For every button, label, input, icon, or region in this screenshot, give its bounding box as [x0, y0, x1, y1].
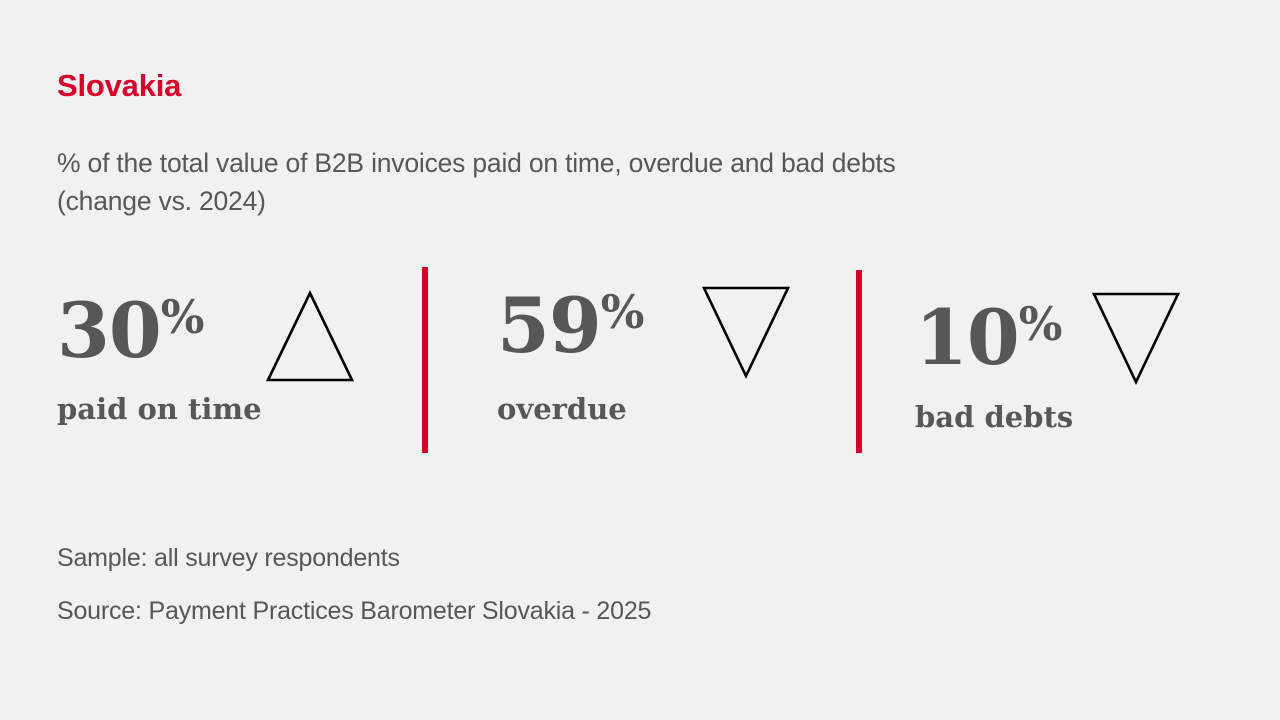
infographic-page: Slovakia % of the total value of B2B inv…	[0, 0, 1280, 720]
percent-sign: %	[161, 290, 204, 344]
stat-value-bad-debts: 10%	[915, 300, 1061, 376]
stats-row: 30% paid on time 59%	[0, 255, 1280, 465]
footer-notes: Sample: all survey respondents Source: P…	[57, 532, 651, 638]
divider-1	[422, 267, 428, 453]
triangle-down-icon	[700, 282, 792, 380]
sample-note: Sample: all survey respondents	[57, 532, 651, 585]
stat-label-overdue: overdue	[497, 395, 627, 424]
stat-label-paid-on-time: paid on time	[57, 395, 262, 424]
stat-number: 10	[915, 293, 1019, 382]
stat-label-bad-debts: bad debts	[915, 403, 1073, 432]
subtitle-line-2: (change vs. 2024)	[57, 182, 1217, 220]
stat-value-paid-on-time: 30%	[57, 293, 203, 369]
subtitle-line-1: % of the total value of B2B invoices pai…	[57, 148, 896, 178]
stat-value-overdue: 59%	[497, 288, 643, 364]
percent-sign: %	[1019, 297, 1062, 351]
page-title: Slovakia	[57, 70, 181, 101]
divider-2	[856, 270, 862, 453]
source-note: Source: Payment Practices Barometer Slov…	[57, 585, 651, 638]
percent-sign: %	[601, 285, 644, 339]
triangle-up-icon	[264, 288, 356, 386]
triangle-down-icon	[1090, 288, 1182, 386]
stat-number: 30	[57, 286, 161, 375]
page-subtitle: % of the total value of B2B invoices pai…	[57, 144, 1217, 220]
stat-number: 59	[497, 281, 601, 370]
